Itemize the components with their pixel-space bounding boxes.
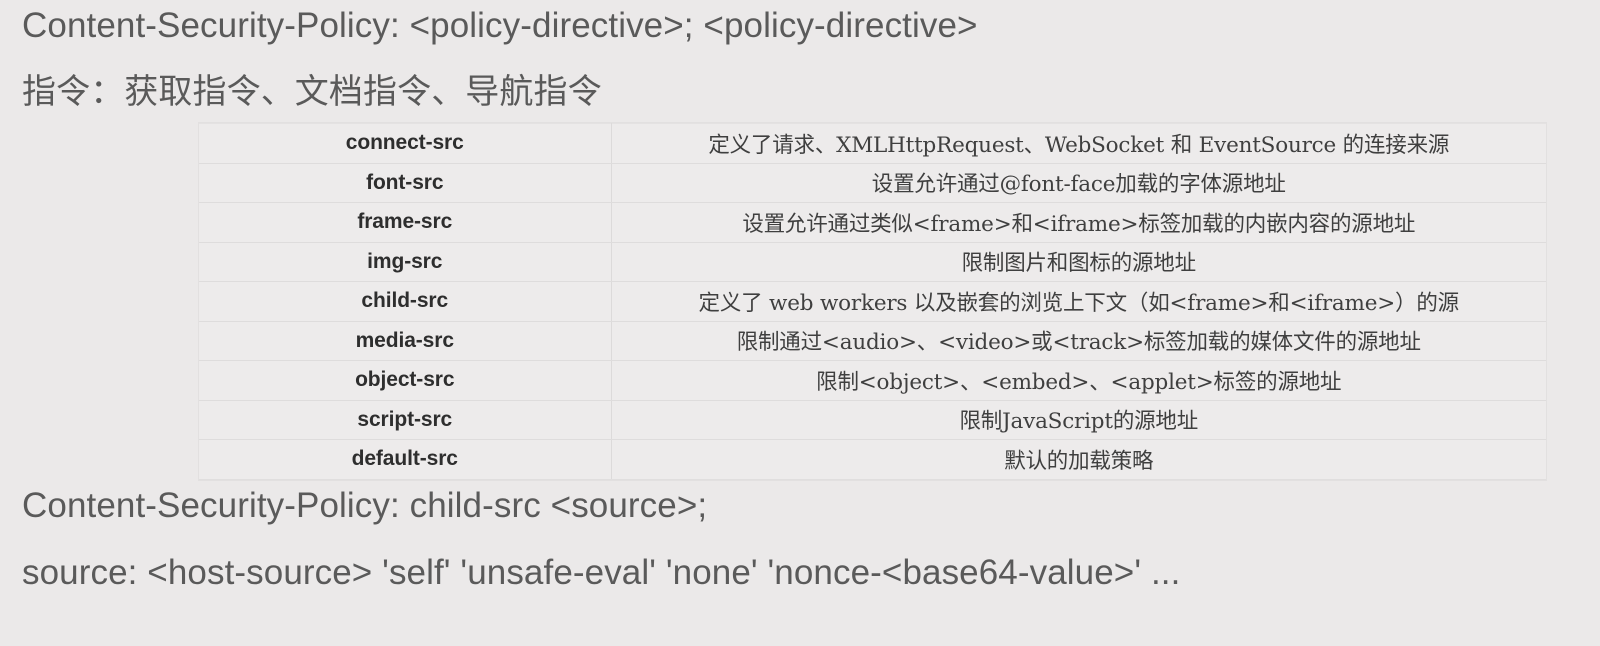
directive-name-cell: frame-src: [199, 203, 611, 243]
directive-name-cell: default-src: [199, 440, 611, 480]
directive-description-cell: 设置允许通过@font-face加载的字体源地址: [611, 163, 1546, 203]
directive-description-cell: 定义了请求、XMLHttpRequest、WebSocket 和 EventSo…: [611, 124, 1546, 164]
directive-name-cell: connect-src: [199, 124, 611, 164]
directive-description-cell: 定义了 web workers 以及嵌套的浏览上下文（如<frame>和<ifr…: [611, 282, 1546, 322]
table-row: child-src 定义了 web workers 以及嵌套的浏览上下文（如<f…: [199, 282, 1546, 322]
table-row: media-src 限制通过<audio>、<video>或<track>标签加…: [199, 321, 1546, 361]
table-row: font-src 设置允许通过@font-face加载的字体源地址: [199, 163, 1546, 203]
csp-header-syntax-text: Content-Security-Policy: <policy-directi…: [22, 4, 978, 48]
source-values-text: source: <host-source> 'self' 'unsafe-eva…: [22, 551, 1180, 595]
table-row: img-src 限制图片和图标的源地址: [199, 242, 1546, 282]
table-row: connect-src 定义了请求、XMLHttpRequest、WebSock…: [199, 124, 1546, 164]
directive-description-cell: 限制通过<audio>、<video>或<track>标签加载的媒体文件的源地址: [611, 321, 1546, 361]
table-row: script-src 限制JavaScript的源地址: [199, 400, 1546, 440]
directive-description-cell: 限制JavaScript的源地址: [611, 400, 1546, 440]
directive-name-cell: font-src: [199, 163, 611, 203]
directive-description-cell: 设置允许通过类似<frame>和<iframe>标签加载的内嵌内容的源地址: [611, 203, 1546, 243]
directive-name-cell: script-src: [199, 400, 611, 440]
table-row: frame-src 设置允许通过类似<frame>和<iframe>标签加载的内…: [199, 203, 1546, 243]
directive-table-body: connect-src 定义了请求、XMLHttpRequest、WebSock…: [199, 124, 1546, 480]
table-row: object-src 限制<object>、<embed>、<applet>标签…: [199, 361, 1546, 401]
table-row: default-src 默认的加载策略: [199, 440, 1546, 480]
directive-categories-text: 指令：获取指令、文档指令、导航指令: [22, 70, 602, 114]
directive-name-cell: img-src: [199, 242, 611, 282]
csp-child-src-syntax-text: Content-Security-Policy: child-src <sour…: [22, 484, 707, 528]
directive-name-cell: child-src: [199, 282, 611, 322]
slide-root: Content-Security-Policy: <policy-directi…: [0, 0, 1600, 646]
directive-description-cell: 默认的加载策略: [611, 440, 1546, 480]
directive-name-cell: object-src: [199, 361, 611, 401]
directive-description-cell: 限制图片和图标的源地址: [611, 242, 1546, 282]
directive-name-cell: media-src: [199, 321, 611, 361]
csp-directive-table: connect-src 定义了请求、XMLHttpRequest、WebSock…: [199, 123, 1546, 480]
directive-description-cell: 限制<object>、<embed>、<applet>标签的源地址: [611, 361, 1546, 401]
